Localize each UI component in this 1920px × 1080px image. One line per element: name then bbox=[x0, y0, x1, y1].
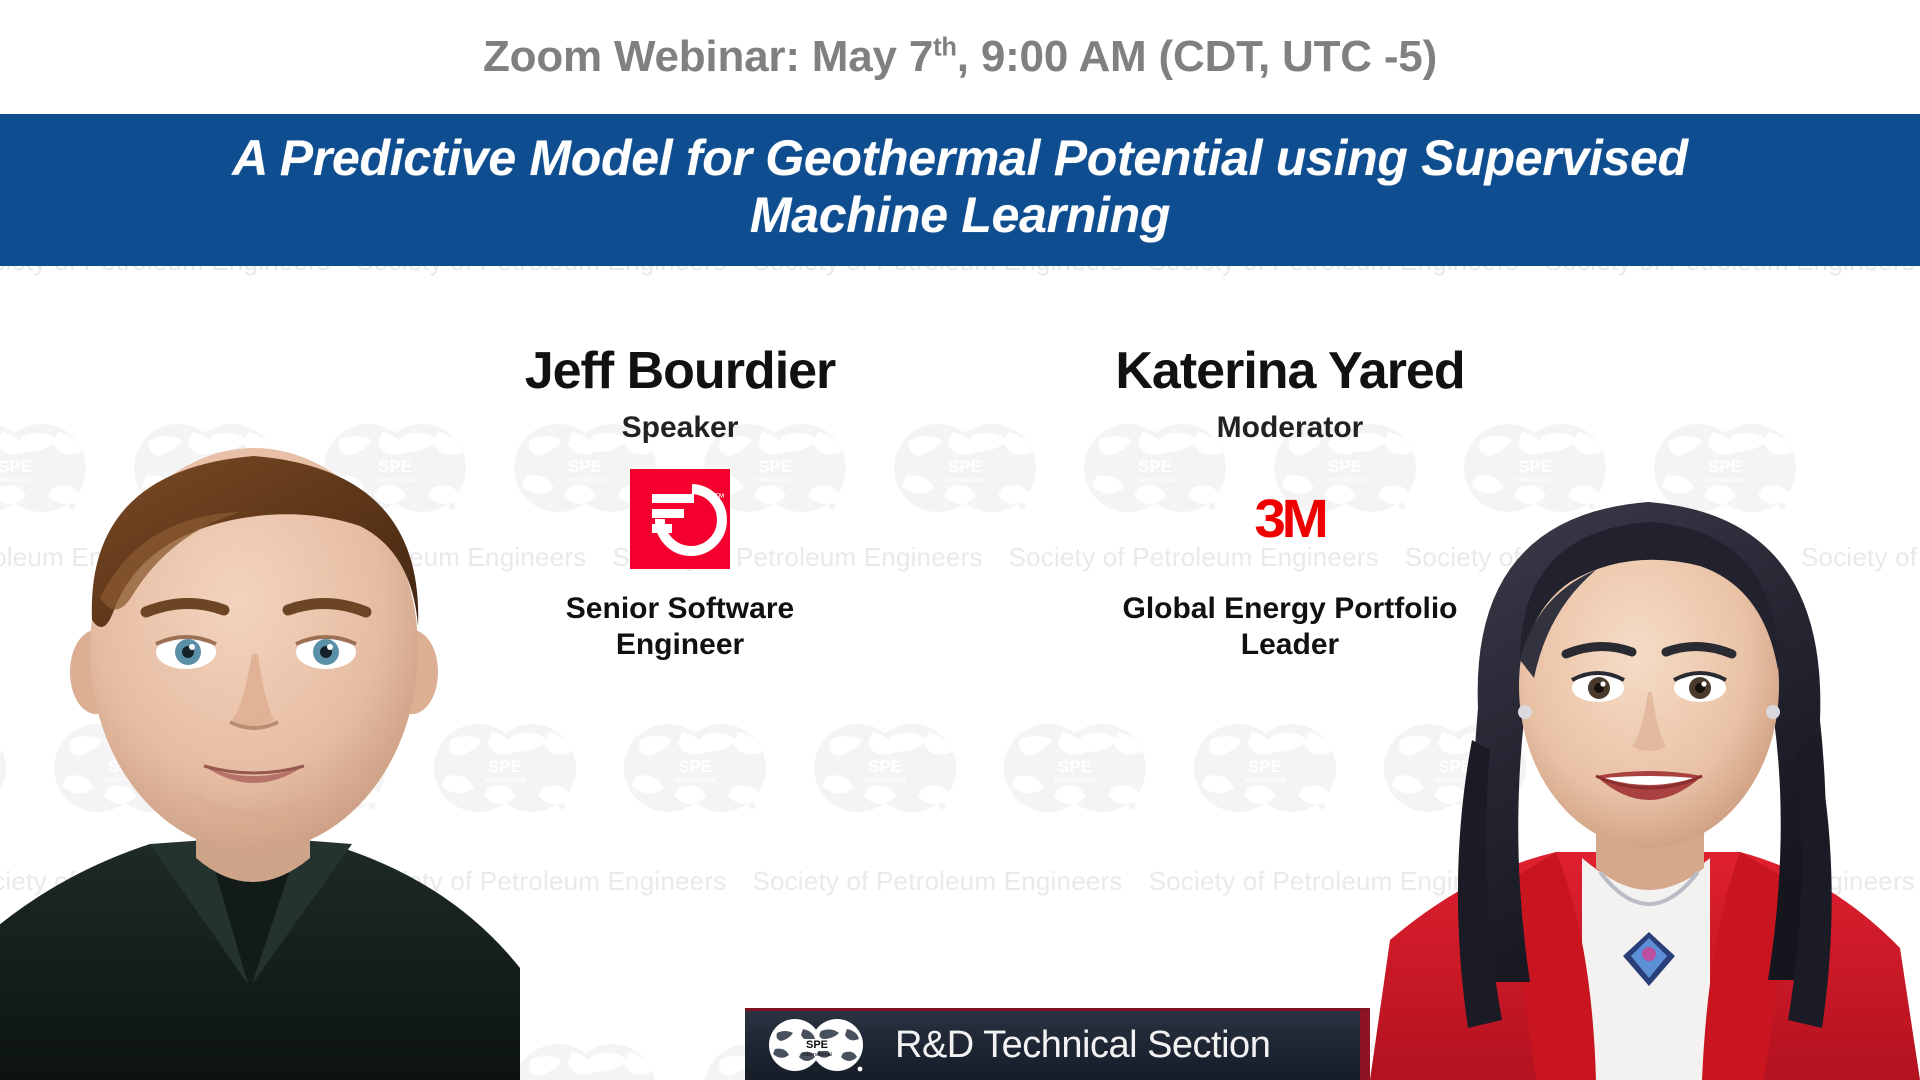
spe-globe-watermark: SPEInternational bbox=[1190, 706, 1340, 856]
presenter-title-moderator: Global Energy Portfolio Leader bbox=[1060, 591, 1520, 664]
webinar-datetime: Zoom Webinar: May 7th, 9:00 AM (CDT, UTC… bbox=[483, 32, 1437, 82]
presenter-card-speaker: Jeff Bourdier Speaker ™ Senior Software bbox=[450, 266, 910, 664]
spe-globe-watermark: SPEInternational bbox=[810, 706, 960, 856]
svg-text:™: ™ bbox=[714, 492, 725, 504]
spe-globe-watermark: SPEInternational bbox=[890, 406, 1040, 556]
svg-text:SPE: SPE bbox=[678, 757, 712, 776]
watermark-text: Society of Petroleum Engineers bbox=[1545, 266, 1915, 277]
3m-logo: 3M bbox=[1060, 463, 1520, 575]
presenter-name-moderator: Katerina Yared bbox=[1060, 344, 1520, 399]
watermark-text: Society of Petroleum Engineers bbox=[0, 266, 330, 277]
svg-text:International: International bbox=[864, 775, 906, 784]
presenter-name-speaker: Jeff Bourdier bbox=[450, 344, 910, 399]
svg-text:International: International bbox=[1054, 775, 1096, 784]
webinar-title-line2: Machine Learning bbox=[750, 187, 1170, 243]
svg-text:SPE: SPE bbox=[1248, 757, 1282, 776]
3m-logo-text: 3M bbox=[1255, 492, 1325, 546]
webinar-title-line1: A Predictive Model for Geothermal Potent… bbox=[232, 130, 1687, 186]
spe-globe-watermark: SPEInternational bbox=[1000, 706, 1150, 856]
presenter-role-speaker: Speaker bbox=[450, 411, 910, 445]
enverus-logo-mark: ™ bbox=[630, 469, 730, 569]
presenter-card-moderator: Katerina Yared Moderator 3M Global Energ… bbox=[1060, 266, 1520, 664]
enverus-logo: ™ bbox=[450, 463, 910, 575]
svg-text:International: International bbox=[944, 475, 986, 484]
footer-accent-strip bbox=[1360, 1011, 1370, 1080]
presenter-title-line1: Senior Software bbox=[450, 591, 910, 628]
spe-international-logo: SPE International bbox=[759, 1017, 877, 1075]
presenter-title-line2: Engineer bbox=[450, 627, 910, 664]
webinar-title: A Predictive Model for Geothermal Potent… bbox=[232, 130, 1687, 245]
svg-text:International: International bbox=[802, 1052, 832, 1058]
header-bar: Zoom Webinar: May 7th, 9:00 AM (CDT, UTC… bbox=[0, 0, 1920, 114]
watermark-text-row: Society of Petroleum EngineersSociety of… bbox=[0, 266, 1920, 277]
svg-text:International: International bbox=[1244, 775, 1286, 784]
webinar-datetime-suffix: , 9:00 AM (CDT, UTC -5) bbox=[957, 32, 1437, 81]
presenter-title-line2: Leader bbox=[1060, 627, 1520, 664]
svg-text:SPE: SPE bbox=[1058, 757, 1092, 776]
webinar-datetime-prefix: Zoom Webinar: May 7 bbox=[483, 32, 933, 81]
title-banner: A Predictive Model for Geothermal Potent… bbox=[0, 114, 1920, 266]
watermark-text: Society of Petroleum Engineers bbox=[752, 866, 1122, 897]
presenter-title-speaker: Senior Software Engineer bbox=[450, 591, 910, 664]
presenter-role-moderator: Moderator bbox=[1060, 411, 1520, 445]
svg-text:SPE: SPE bbox=[948, 457, 982, 476]
presenter-title-line1: Global Energy Portfolio bbox=[1060, 591, 1520, 628]
footer-section-name: R&D Technical Section bbox=[895, 1024, 1270, 1067]
svg-text:SPE: SPE bbox=[806, 1039, 828, 1051]
date-ordinal-suffix: th bbox=[933, 33, 957, 61]
spe-globe-watermark: SPEInternational bbox=[620, 706, 770, 856]
webinar-promo-graphic: Society of Petroleum EngineersSociety of… bbox=[0, 0, 1920, 1080]
svg-text:International: International bbox=[674, 775, 716, 784]
footer-banner: SPE International R&D Technical Section bbox=[745, 1008, 1370, 1080]
3m-logo-mark: 3M bbox=[1242, 490, 1338, 548]
svg-text:SPE: SPE bbox=[868, 757, 902, 776]
